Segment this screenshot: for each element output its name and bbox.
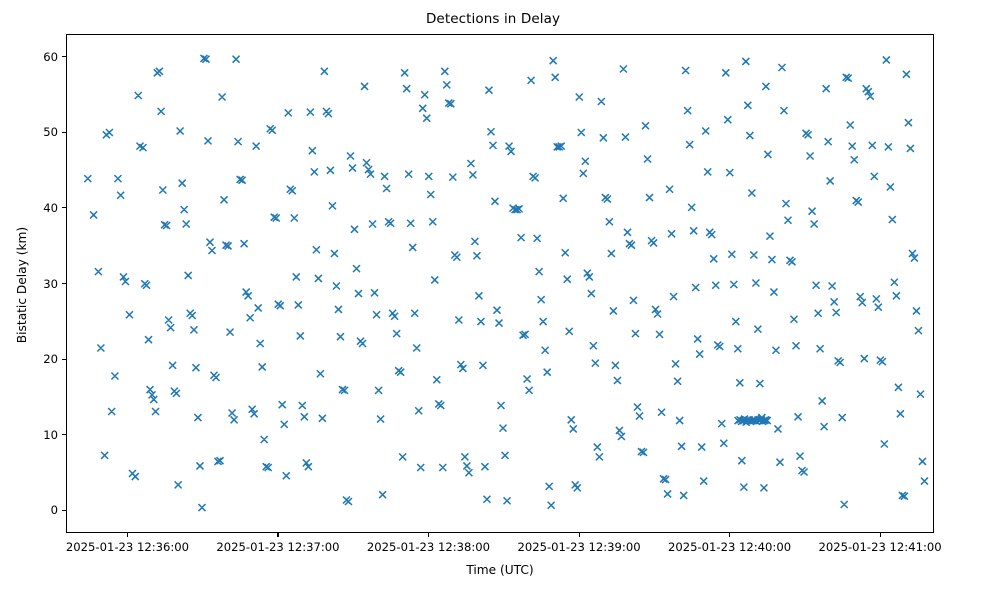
matplotlib-figure: Detections in Delay 2025-01-23 12:36:002… (0, 0, 986, 590)
y-axis-label: Bistatic Delay (km) (15, 145, 29, 425)
x-tick-label: 2025-01-23 12:37:00 (216, 540, 339, 554)
scatter-layer (67, 35, 934, 533)
x-tick-mark (428, 533, 429, 537)
x-tick-mark (277, 533, 278, 537)
x-tick-label: 2025-01-23 12:40:00 (668, 540, 791, 554)
x-axis-label: Time (UTC) (66, 563, 934, 577)
x-tick-label: 2025-01-23 12:41:00 (818, 540, 941, 554)
x-tick-mark (880, 533, 881, 537)
x-tick-label: 2025-01-23 12:36:00 (66, 540, 189, 554)
x-tick-label: 2025-01-23 12:38:00 (367, 540, 490, 554)
x-tick-mark (579, 533, 580, 537)
y-tick-label: 60 (18, 50, 58, 64)
y-tick-label: 50 (18, 125, 58, 139)
scatter-markers (84, 55, 928, 511)
y-tick-label: 0 (18, 503, 58, 517)
x-tick-label: 2025-01-23 12:39:00 (517, 540, 640, 554)
y-tick-label: 10 (18, 428, 58, 442)
plot-area (66, 34, 934, 533)
x-tick-mark (127, 533, 128, 537)
page-title: Detections in Delay (0, 11, 986, 27)
x-tick-mark (729, 533, 730, 537)
